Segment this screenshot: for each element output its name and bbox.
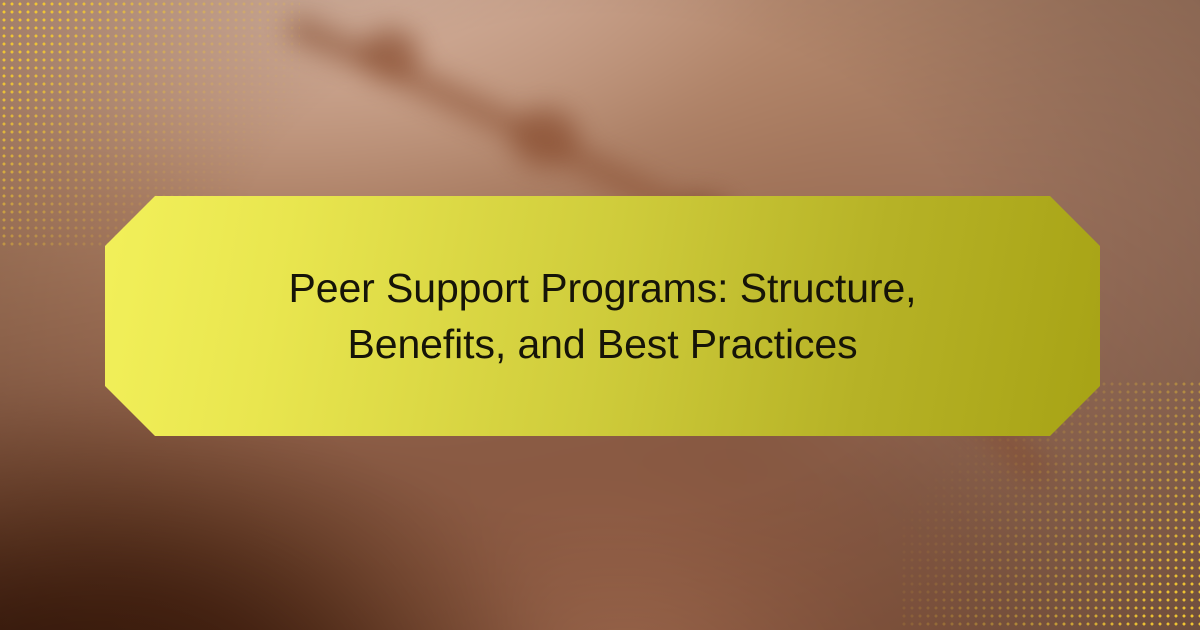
title-plate: Peer Support Programs: Structure, Benefi… (105, 196, 1100, 436)
social-card: Peer Support Programs: Structure, Benefi… (0, 0, 1200, 630)
page-title: Peer Support Programs: Structure, Benefi… (263, 260, 943, 372)
